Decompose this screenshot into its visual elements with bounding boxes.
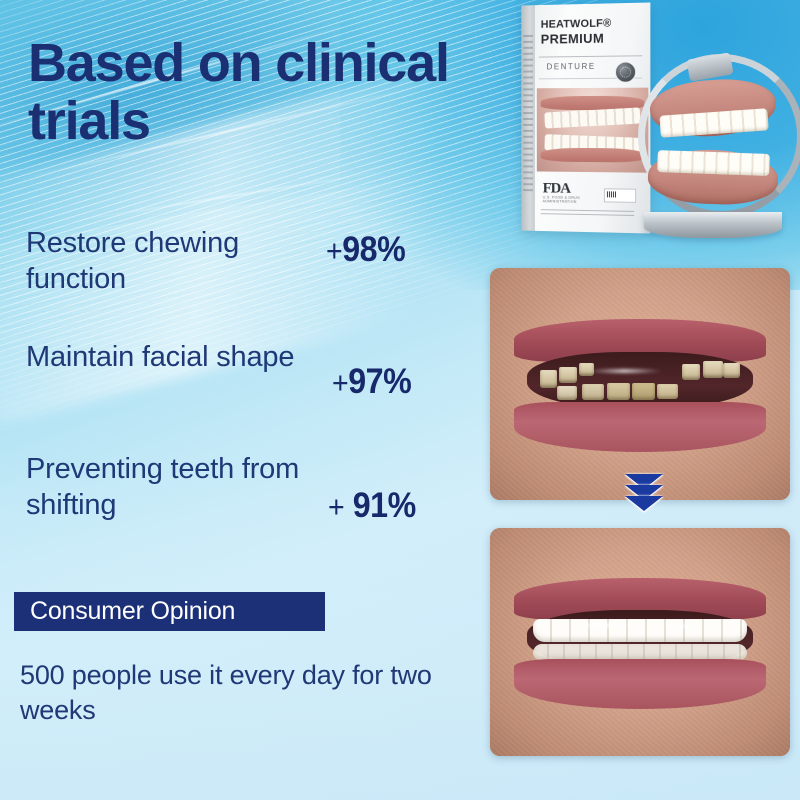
benefit-percentage-value: 98% <box>342 230 405 269</box>
restored-upper-teeth <box>533 619 746 642</box>
benefit-row: Restore chewing function +98% <box>26 226 466 298</box>
consumer-opinion-label: Consumer Opinion <box>30 597 235 626</box>
tooth <box>632 383 655 399</box>
product-box: HEATWOLF® PREMIUM DENTURE FDA U.S. FOOD … <box>521 2 650 233</box>
tooth <box>723 363 740 378</box>
benefit-percentage: +97% <box>332 362 411 402</box>
product-box-photo <box>537 88 648 173</box>
tooth <box>703 361 724 378</box>
barcode-icon <box>604 188 636 203</box>
consumer-opinion-body: 500 people use it every day for two week… <box>20 658 450 728</box>
benefit-percentage: + 91% <box>328 486 416 526</box>
mouth-after <box>514 578 766 701</box>
tooth <box>540 370 557 388</box>
lower-lip <box>514 659 766 708</box>
saliva-highlight <box>586 369 663 373</box>
restored-lower-teeth <box>533 644 746 660</box>
oral-cavity <box>527 352 754 410</box>
benefit-row: Maintain facial shape +97% <box>26 340 466 402</box>
tooth <box>559 367 578 383</box>
benefit-label: Restore chewing function <box>26 226 316 298</box>
consumer-opinion-banner: Consumer Opinion <box>14 592 325 631</box>
benefit-percentage-value: 91% <box>353 486 416 525</box>
denture-gum <box>541 148 645 163</box>
chevron-down-icon <box>625 496 663 511</box>
oral-cavity <box>527 610 754 667</box>
plus-sign: + <box>328 489 344 524</box>
denture-model <box>634 58 798 240</box>
quality-seal-icon <box>615 61 636 82</box>
divider <box>539 55 642 57</box>
plus-sign: + <box>326 233 342 268</box>
fda-logo-subtext: U.S. FOOD & DRUG ADMINISTRATION <box>543 195 612 204</box>
benefit-row: Preventing teeth from shifting + 91% <box>26 452 466 526</box>
benefit-label: Maintain facial shape <box>26 340 316 376</box>
tooth-highlight <box>567 623 635 628</box>
advertisement-page: Based on clinical trials Restore chewing… <box>0 0 800 800</box>
denture-model-stand <box>644 212 782 238</box>
benefit-percentage: +98% <box>326 230 405 270</box>
before-treatment-photo <box>490 268 790 500</box>
product-tier-label: PREMIUM <box>541 30 612 46</box>
product-brand-name: HEATWOLF® <box>541 17 612 31</box>
page-title: Based on clinical trials <box>28 34 498 151</box>
lower-lip <box>514 402 766 452</box>
tooth <box>682 364 701 380</box>
denture-teeth-row <box>544 107 640 128</box>
benefit-percentage-value: 97% <box>348 362 411 401</box>
product-category-label: DENTURE <box>547 62 596 71</box>
product-box-side-panel <box>521 5 535 231</box>
product-image: HEATWOLF® PREMIUM DENTURE FDA U.S. FOOD … <box>518 0 800 252</box>
mouth-before <box>514 319 766 444</box>
product-box-fineprint <box>541 209 634 219</box>
product-box-side-text <box>523 35 533 193</box>
tooth <box>607 383 630 400</box>
tooth <box>582 384 605 400</box>
damaged-teeth-group <box>536 354 745 406</box>
plus-sign: + <box>332 365 348 400</box>
denture-lower-teeth <box>657 150 769 176</box>
product-brand-block: HEATWOLF® PREMIUM <box>541 17 612 46</box>
tooth <box>657 384 678 399</box>
down-chevron-indicator <box>620 474 668 536</box>
after-treatment-photo <box>490 528 790 756</box>
tooth <box>557 386 578 399</box>
background-streak <box>62 170 388 224</box>
benefit-label: Preventing teeth from shifting <box>26 452 316 524</box>
